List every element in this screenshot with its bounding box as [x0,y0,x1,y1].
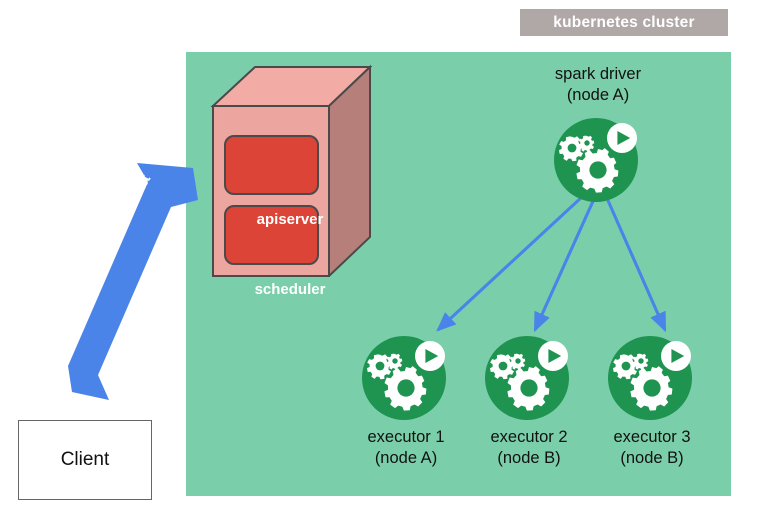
node-executor-2-node: (node B) [471,448,587,469]
node-executor-1-caption: executor 1 (node A) [348,427,464,469]
node-executor-1 [360,330,452,422]
node-spark-driver-name: spark driver [510,64,686,85]
play-icon [415,341,445,371]
kubernetes-cluster-banner: kubernetes cluster [520,9,728,36]
node-spark-driver [552,112,644,204]
node-executor-1-name: executor 1 [348,427,464,448]
client-label: Client [61,449,110,471]
play-icon [607,123,637,153]
node-executor-2 [483,330,575,422]
node-spark-driver-node: (node A) [510,85,686,106]
kubernetes-cluster-banner-label: kubernetes cluster [553,14,694,32]
diagram-canvas: kubernetes cluster apiserver [0,0,761,516]
node-executor-3 [606,330,698,422]
node-executor-3-name: executor 3 [594,427,710,448]
node-executor-3-caption: executor 3 (node B) [594,427,710,469]
client-box: Client [18,420,152,500]
node-executor-3-node: (node B) [594,448,710,469]
spark-submit-arrow-shape [68,163,198,400]
component-scheduler [225,206,318,264]
node-executor-2-name: executor 2 [471,427,587,448]
spark-submit-arrow [60,160,210,410]
node-spark-driver-caption: spark driver (node A) [510,64,686,106]
node-executor-2-caption: executor 2 (node B) [471,427,587,469]
play-icon [538,341,568,371]
component-apiserver [225,136,318,194]
control-plane-cube: apiserver scheduler [205,62,375,277]
node-executor-1-node: (node A) [348,448,464,469]
play-icon [661,341,691,371]
